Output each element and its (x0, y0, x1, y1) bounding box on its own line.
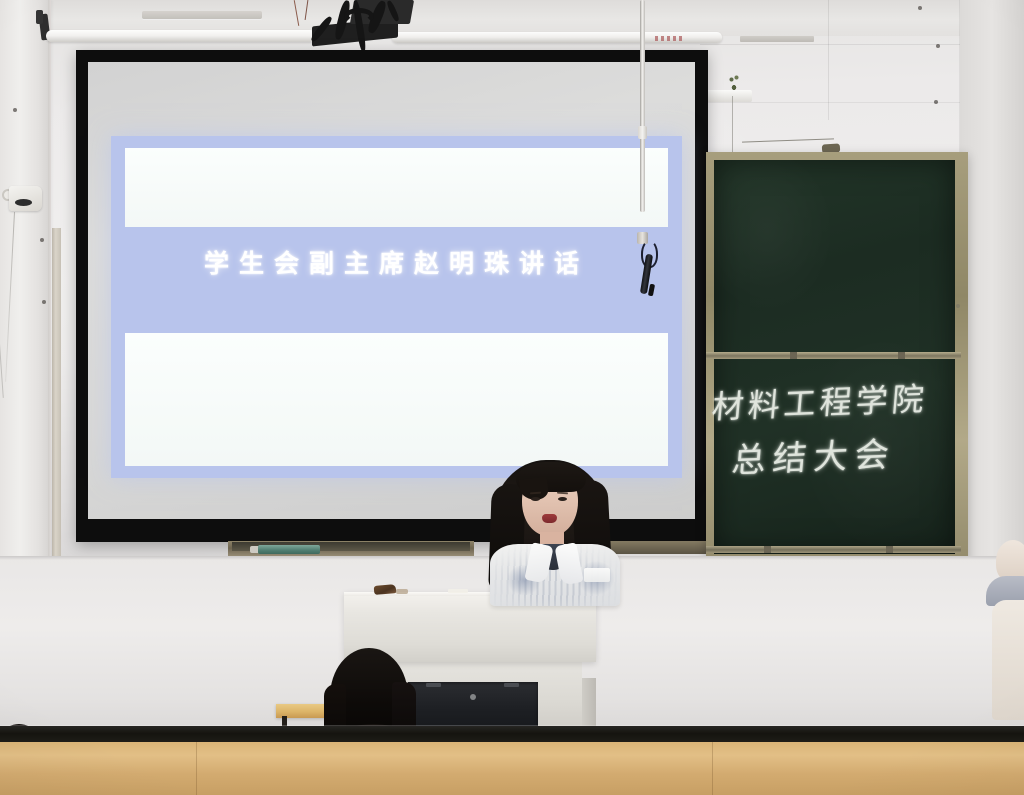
ceiling-vent-secondary (740, 36, 814, 42)
wall-screw (918, 6, 922, 10)
floor-seam (196, 742, 197, 795)
floor-seam (712, 742, 713, 795)
small-plant (727, 74, 740, 94)
paper-on-lectern (448, 589, 468, 593)
roller-bar-label (655, 36, 685, 41)
chalkboard-divider-rail (706, 352, 961, 359)
chalkboard-rail-clip (886, 546, 893, 553)
chalkboard-bottom-rail (706, 546, 961, 553)
presenter-at-podium (484, 452, 624, 600)
slide-band-bottom (125, 333, 668, 466)
chalkboard-rail-clip (790, 352, 797, 359)
screen-roller-bar (46, 30, 316, 42)
slide-title-text: 学生会副主席赵明珠讲话 (111, 244, 682, 280)
person-torso (992, 600, 1024, 720)
chalkboard-rail-clip (764, 546, 771, 553)
floor (0, 742, 1024, 795)
presenter-jacket-pocket (584, 568, 610, 582)
object-on-lectern (374, 584, 397, 595)
wall-screw (42, 300, 46, 304)
presenter-mouth (542, 514, 557, 523)
wall-speaker (9, 186, 42, 211)
screen-pull-cord[interactable] (640, 0, 645, 212)
presenter-eye (531, 497, 540, 501)
skirting-board (0, 726, 1024, 743)
projector-cable-loop (344, 8, 374, 24)
board-eraser (258, 545, 320, 554)
chalkboard-screw (956, 304, 960, 308)
lectern-bay-clip (504, 683, 519, 687)
chalkboard-text-line-1: 材料工程学院 (710, 374, 930, 428)
projection-screen-surface: 学生会副主席赵明珠讲话 (88, 62, 695, 519)
wall-screw (13, 108, 17, 112)
pull-cord-joint (638, 126, 647, 139)
lectern-bay-indicator (470, 694, 476, 700)
screen-roller-bracket-top (36, 10, 43, 24)
chalkboard-text-line-2: 总结大会 (730, 427, 898, 482)
wall-screw (40, 238, 44, 242)
object-on-lectern-secondary (396, 589, 408, 594)
chalkboard-rail-clip (898, 352, 905, 359)
ceiling-vent (142, 11, 262, 19)
classroom-photo-scene: 学生会副主席赵明珠讲话 材料工程学院 总结大会 (0, 0, 1024, 795)
slide-band-top (125, 148, 668, 227)
presenter-eye (558, 497, 567, 501)
projected-slide: 学生会副主席赵明珠讲话 (111, 136, 682, 478)
